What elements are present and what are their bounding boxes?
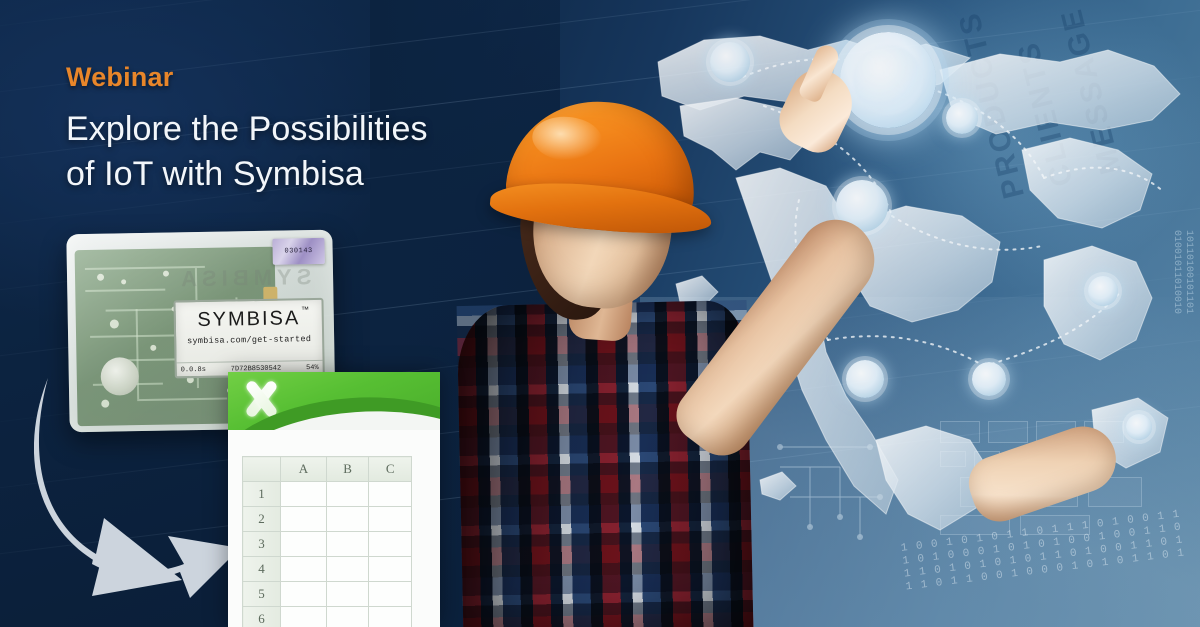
map-node-7 <box>1126 414 1152 440</box>
map-node-4 <box>972 362 1006 396</box>
table-row: 4 <box>243 557 412 582</box>
spreadsheet-header <box>228 372 440 430</box>
spreadsheet-grid[interactable]: A B C 1 2 3 4 <box>242 456 412 627</box>
cell-c6[interactable] <box>369 607 412 627</box>
cell-a4[interactable] <box>281 557 327 582</box>
row-header-6[interactable]: 6 <box>243 607 281 627</box>
column-header-a[interactable]: A <box>281 457 327 482</box>
copy-block: Webinar Explore the Possibilities of IoT… <box>66 62 496 197</box>
row-header-3[interactable]: 3 <box>243 532 281 557</box>
person-figure <box>430 78 950 627</box>
security-sticker: 030143 <box>272 238 324 265</box>
cell-b6[interactable] <box>326 607 369 627</box>
cell-b1[interactable] <box>326 482 369 507</box>
kicker-label: Webinar <box>66 62 496 93</box>
cell-b2[interactable] <box>326 507 369 532</box>
table-row: 3 <box>243 532 412 557</box>
column-header-row: A B C <box>243 457 412 482</box>
device-brand-label: SYMBISA ™ <box>197 307 300 332</box>
cell-c3[interactable] <box>369 532 412 557</box>
cell-b3[interactable] <box>326 532 369 557</box>
cell-b5[interactable] <box>326 582 369 607</box>
page-title: Explore the Possibilities of IoT with Sy… <box>66 107 496 197</box>
row-header-1[interactable]: 1 <box>243 482 281 507</box>
table-row: 2 <box>243 507 412 532</box>
device-embossed-brand: SYMBISA <box>176 264 312 292</box>
row-header-2[interactable]: 2 <box>243 507 281 532</box>
webinar-banner: PRODUCTS CLIENTS MESSAGE 1 0 0 1 0 1 0 1… <box>0 0 1200 627</box>
headline-line-1: Explore the Possibilities <box>66 110 428 148</box>
cell-a1[interactable] <box>281 482 327 507</box>
trademark-symbol: ™ <box>301 305 311 314</box>
grid-corner <box>243 457 281 482</box>
device-url-label: symbisa.com/get-started <box>187 334 311 346</box>
row-header-4[interactable]: 4 <box>243 557 281 582</box>
headline-line-2: of IoT with Symbisa <box>66 155 364 193</box>
row-header-5[interactable]: 5 <box>243 582 281 607</box>
map-node-1 <box>710 42 750 82</box>
cell-a6[interactable] <box>281 607 327 627</box>
cell-a2[interactable] <box>281 507 327 532</box>
cell-c2[interactable] <box>369 507 412 532</box>
cell-a5[interactable] <box>281 582 327 607</box>
column-header-c[interactable]: C <box>369 457 412 482</box>
table-row: 5 <box>243 582 412 607</box>
cell-c5[interactable] <box>369 582 412 607</box>
spreadsheet-panel: A B C 1 2 3 4 <box>228 372 440 627</box>
column-header-b[interactable]: B <box>326 457 369 482</box>
shirt-shading <box>457 300 754 627</box>
map-node-5 <box>946 102 978 134</box>
map-node-6 <box>1088 276 1118 306</box>
device-brand-text: SYMBISA <box>197 307 300 331</box>
cell-c4[interactable] <box>369 557 412 582</box>
device-display: SYMBISA ™ symbisa.com/get-started 0.0.8s… <box>173 298 324 379</box>
table-row: 1 <box>243 482 412 507</box>
status-battery: 54% <box>306 363 319 371</box>
cell-b4[interactable] <box>326 557 369 582</box>
status-uptime: 0.0.8s <box>181 365 206 373</box>
cell-a3[interactable] <box>281 532 327 557</box>
cell-c1[interactable] <box>369 482 412 507</box>
table-row: 6 <box>243 607 412 627</box>
